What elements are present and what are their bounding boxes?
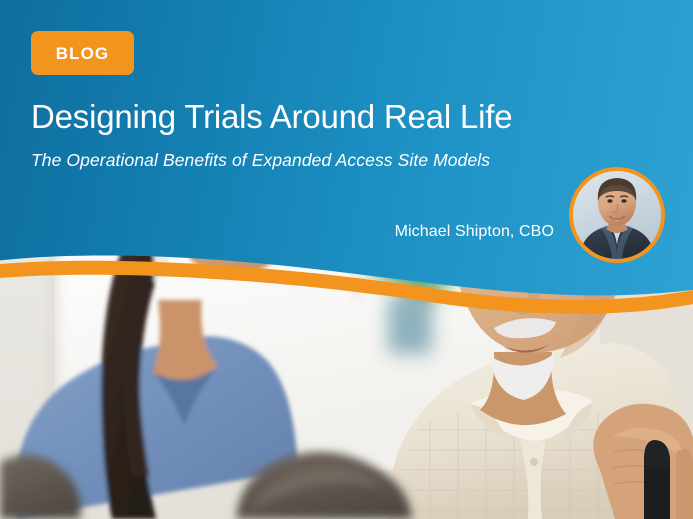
blog-badge[interactable]: BLOG [31,31,134,75]
blog-header-card: BLOG Designing Trials Around Real Life T… [0,0,693,519]
author-avatar [569,167,665,263]
page-title: Designing Trials Around Real Life [31,99,512,136]
page-subtitle: The Operational Benefits of Expanded Acc… [31,150,490,171]
author-byline: Michael Shipton, CBO [0,222,554,241]
